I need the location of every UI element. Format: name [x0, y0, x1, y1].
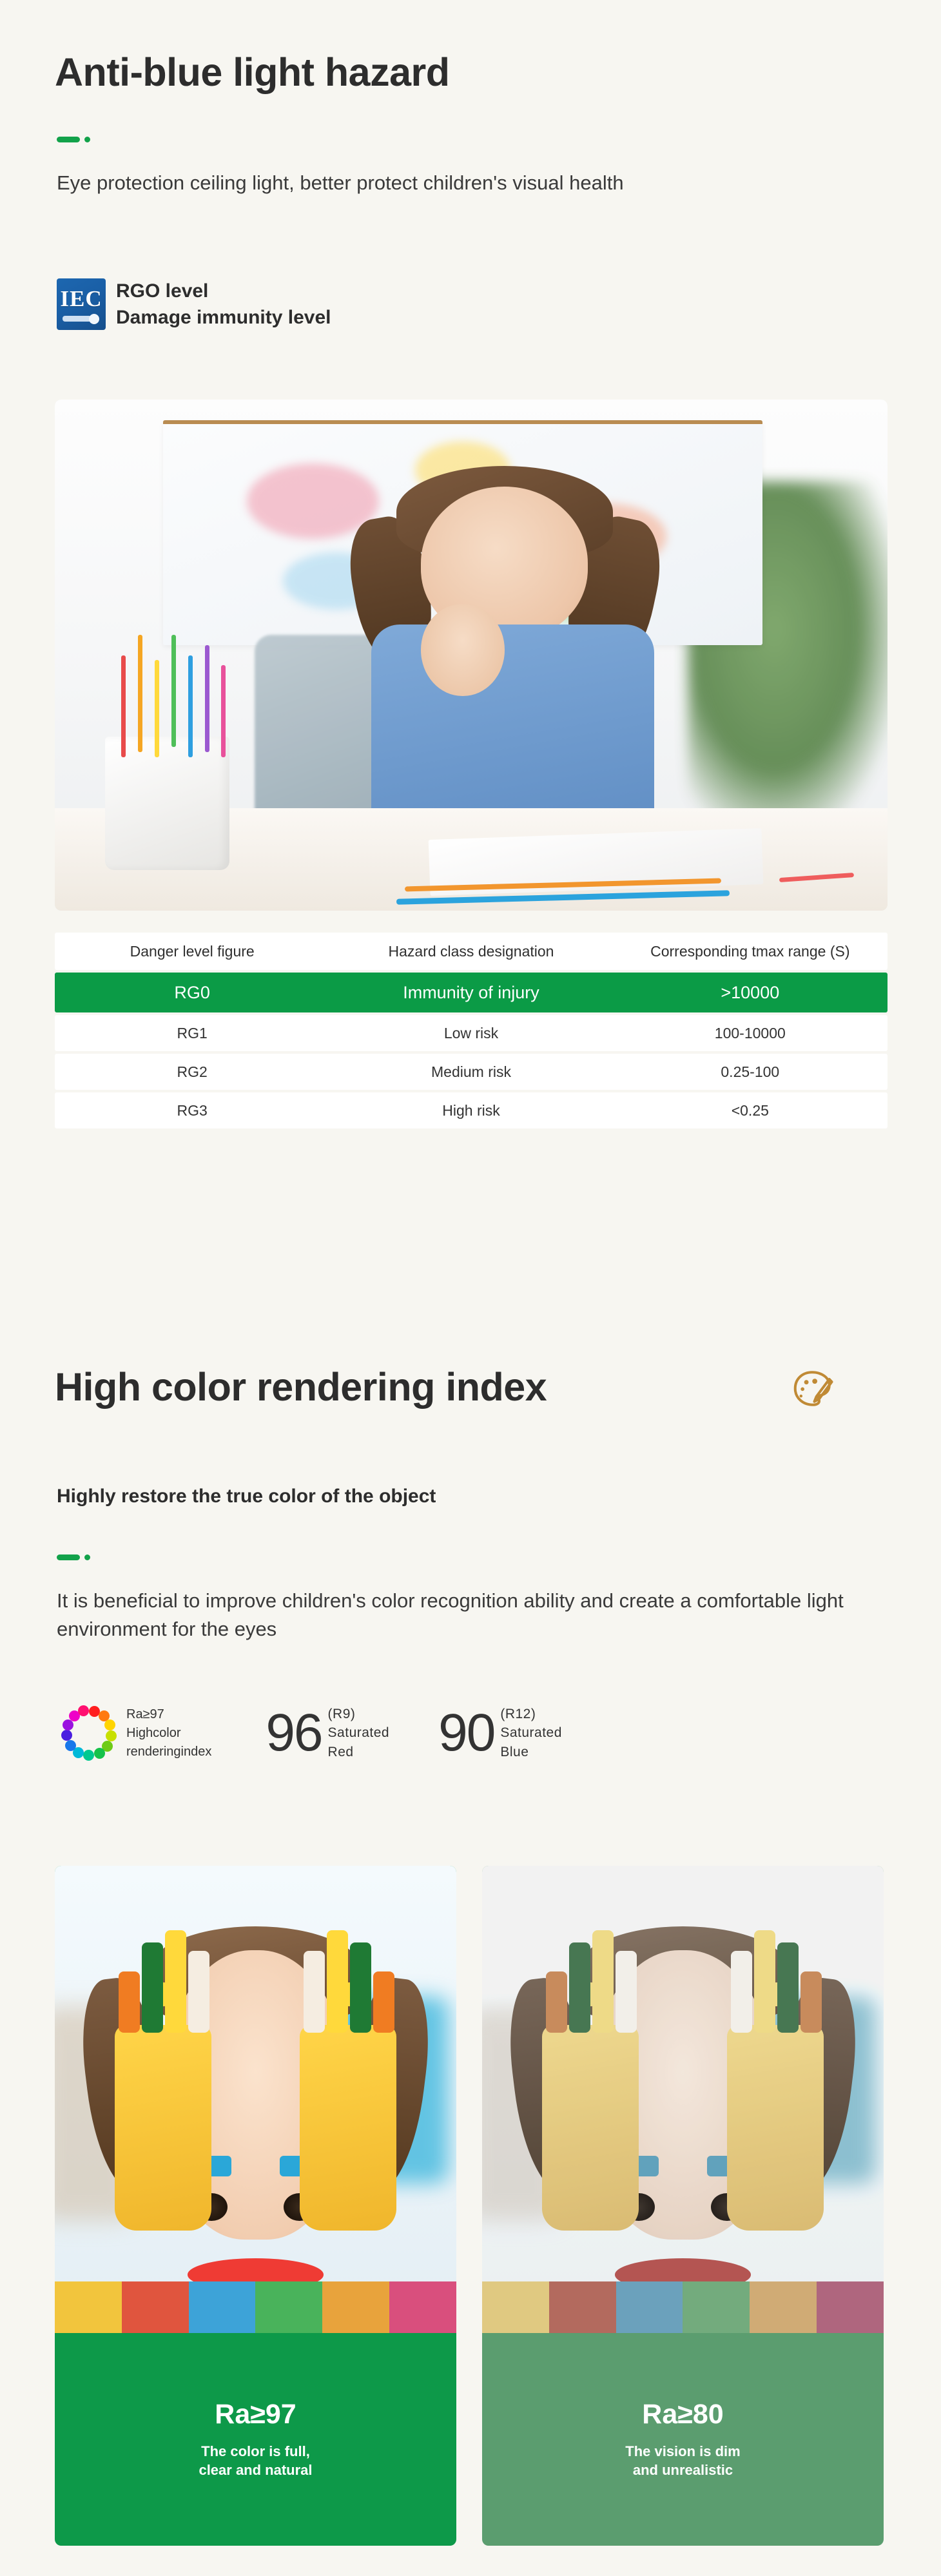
section2-marker: [57, 1554, 90, 1560]
comparison-photo-left: [55, 1866, 456, 2333]
cri-value-r9: 96: [266, 1709, 322, 1757]
comparison-card-left: Ra≥97 The color is full, clear and natur…: [55, 1866, 456, 2546]
comparison-ra-left: Ra≥97: [215, 2399, 296, 2430]
color-wheel-dot: [104, 1719, 115, 1730]
table-cell-range: <0.25: [613, 1102, 888, 1119]
green-dot-icon: [84, 137, 90, 142]
cri-stats-row: Ra≥97 Highcolor renderingindex 96 (R9) S…: [61, 1705, 562, 1761]
iec-badge-row: IEC RGO level Damage immunity level: [57, 278, 331, 330]
green-dash-icon: [57, 1554, 80, 1560]
section1-marker: [57, 137, 90, 142]
cri-stat-r12: 90 (R12) Saturated Blue: [438, 1706, 562, 1760]
cri-wheel-label: Ra≥97 Highcolor renderingindex: [126, 1707, 211, 1760]
table-col-header-2: Corresponding tmax range (S): [613, 943, 888, 960]
table-cell-designation: Immunity of injury: [329, 983, 612, 1003]
comparison-desc-right: The vision is dim and unrealistic: [625, 2442, 740, 2479]
color-wheel-dot: [94, 1748, 105, 1759]
comparison-caption-left: Ra≥97 The color is full, clear and natur…: [55, 2333, 456, 2546]
kid-illustration-dim: [482, 1866, 884, 2333]
cri-name1-r9: Saturated: [328, 1725, 390, 1741]
comparison-desc-right-line1: The vision is dim: [625, 2443, 740, 2459]
table-row: RG2 Medium risk 0.25-100: [55, 1054, 888, 1090]
color-wheel-dot: [65, 1740, 76, 1751]
table-cell-range: >10000: [613, 983, 888, 1003]
hero-photo-scene: [55, 400, 888, 911]
table-header-row: Danger level figure Hazard class designa…: [55, 933, 888, 970]
table-cell-level: RG1: [55, 1025, 329, 1042]
table-cell-range: 100-10000: [613, 1025, 888, 1042]
table-cell-designation: Medium risk: [329, 1063, 612, 1081]
iec-certification-logo-icon: IEC: [57, 278, 106, 330]
cri-name1-r12: Saturated: [500, 1725, 562, 1741]
color-wheel-dot: [61, 1730, 72, 1741]
table-cell-level: RG2: [55, 1063, 329, 1081]
product-detail-page: Anti-blue light hazard Eye protection ce…: [0, 0, 941, 2576]
color-wheel-dot: [78, 1705, 89, 1716]
hazard-table: Danger level figure Hazard class designa…: [55, 933, 888, 1128]
table-row: RG3 High risk <0.25: [55, 1092, 888, 1128]
section2-title-wrap: High color rendering index: [55, 1366, 547, 1408]
iec-logo-bar: [63, 316, 92, 322]
table-cell-designation: Low risk: [329, 1025, 612, 1042]
section1-lead-text: Eye protection ceiling light, better pro…: [57, 169, 830, 197]
comparison-photo-right: [482, 1866, 884, 2333]
cri-code-r12: (R12): [500, 1706, 562, 1722]
green-dash-icon: [57, 137, 80, 142]
comparison-desc-right-line2: and unrealistic: [633, 2462, 733, 2478]
comparison-desc-left: The color is full, clear and natural: [199, 2442, 312, 2479]
cri-stat-r9: 96 (R9) Saturated Red: [266, 1706, 389, 1760]
kid-illustration-vivid: [55, 1866, 456, 2333]
color-wheel-dot: [106, 1730, 117, 1741]
table-cell-designation: High risk: [329, 1102, 612, 1119]
table-col-header-1: Hazard class designation: [329, 943, 612, 960]
section1-title: Anti-blue light hazard: [55, 52, 450, 93]
hero-photo-girl-thinking: [55, 400, 888, 911]
iec-badge-line1: RGO level: [116, 280, 331, 303]
table-cell-level: RG3: [55, 1102, 329, 1119]
iec-logo-dot: [89, 314, 99, 324]
table-row: RG0 Immunity of injury >10000: [55, 973, 888, 1012]
iec-badge-line2: Damage immunity level: [116, 306, 331, 329]
table-cell-range: 0.25-100: [613, 1063, 888, 1081]
table-cell-level: RG0: [55, 983, 329, 1003]
table-row: RG1 Low risk 100-10000: [55, 1015, 888, 1051]
comparison-card-right: Ra≥80 The vision is dim and unrealistic: [482, 1866, 884, 2546]
comparison-desc-left-line1: The color is full,: [201, 2443, 310, 2459]
comparison-ra-right: Ra≥80: [642, 2399, 723, 2430]
color-wheel-icon: [61, 1705, 117, 1761]
cri-label-line1: Ra≥97: [126, 1707, 211, 1723]
section2-title: High color rendering index: [55, 1366, 547, 1408]
cri-code-r9: (R9): [328, 1706, 390, 1722]
section2-subtitle: Highly restore the true color of the obj…: [57, 1486, 436, 1507]
comparison-desc-left-line2: clear and natural: [199, 2462, 312, 2478]
cri-name2-r12: Blue: [500, 1744, 562, 1760]
table-col-header-0: Danger level figure: [55, 943, 329, 960]
section2-title-text: High color rendering index: [55, 1365, 547, 1409]
comparison-caption-right: Ra≥80 The vision is dim and unrealistic: [482, 2333, 884, 2546]
iec-logo-text: IEC: [57, 287, 106, 310]
color-wheel-dot: [83, 1750, 94, 1761]
cri-label-line2: Highcolor: [126, 1725, 211, 1741]
section1-title-wrap: Anti-blue light hazard: [55, 52, 450, 93]
cri-value-r12: 90: [438, 1709, 494, 1757]
green-dot-icon: [84, 1554, 90, 1560]
section1-title-text: Anti-blue light hazard: [55, 50, 450, 94]
iec-badge-text: RGO level Damage immunity level: [116, 280, 331, 329]
paint-palette-icon: [788, 1365, 837, 1417]
cri-label-line3: renderingindex: [126, 1744, 211, 1760]
cri-name2-r9: Red: [328, 1744, 390, 1760]
section2-lead-text: It is beneficial to improve children's c…: [57, 1587, 849, 1643]
